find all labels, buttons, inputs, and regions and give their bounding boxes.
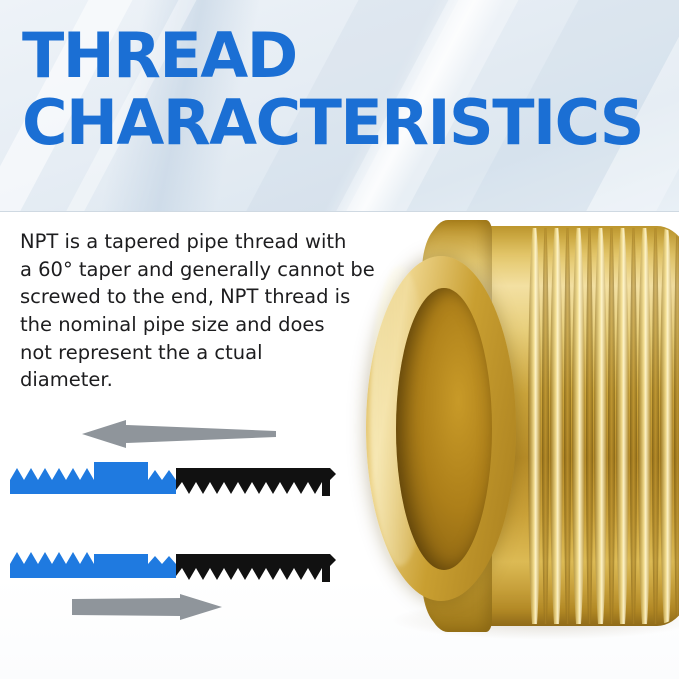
thread-groove	[674, 228, 679, 624]
female-thread-blue-upper	[10, 462, 176, 494]
thread-ridge	[638, 228, 651, 624]
thread-ridge	[594, 228, 607, 624]
thread-ridge	[616, 228, 629, 624]
thread-groove	[652, 228, 659, 624]
thread-ridge	[528, 228, 541, 624]
thread-groove	[586, 228, 593, 624]
thread-groove	[608, 228, 615, 624]
thread-diagram	[0, 412, 360, 642]
page-title: THREAD CHARACTERISTICS	[22, 26, 679, 154]
male-thread-black-lower	[176, 554, 336, 582]
title-line-2: CHARACTERISTICS	[22, 93, 679, 154]
brass-bore-hole	[396, 288, 492, 570]
thread-pair-lower	[10, 552, 336, 582]
female-thread-blue-lower	[10, 552, 176, 578]
thread-pair-upper	[10, 462, 336, 496]
thread-ridge	[660, 228, 673, 624]
description-line: NPT is a tapered pipe thread with	[20, 228, 390, 256]
thread-groove	[564, 228, 571, 624]
brass-thread-ridges	[526, 228, 679, 624]
male-thread-black-upper	[176, 468, 336, 496]
description-text: NPT is a tapered pipe thread with a 60° …	[20, 228, 390, 394]
arrow-left-icon	[82, 420, 276, 448]
description-line: screwed to the end, NPT thread is	[20, 283, 390, 311]
description-line: the nominal pipe size and does	[20, 311, 390, 339]
arrow-right-icon	[72, 594, 222, 620]
title-line-1: THREAD	[22, 26, 679, 87]
thread-ridge	[550, 228, 563, 624]
description-line: not represent the a ctual	[20, 339, 390, 367]
thread-groove	[630, 228, 637, 624]
thread-groove	[542, 228, 549, 624]
description-line: a 60° taper and generally cannot be	[20, 256, 390, 284]
thread-ridge	[572, 228, 585, 624]
description-line: diameter.	[20, 366, 390, 394]
infographic-page: THREAD CHARACTERISTICS	[0, 0, 679, 679]
